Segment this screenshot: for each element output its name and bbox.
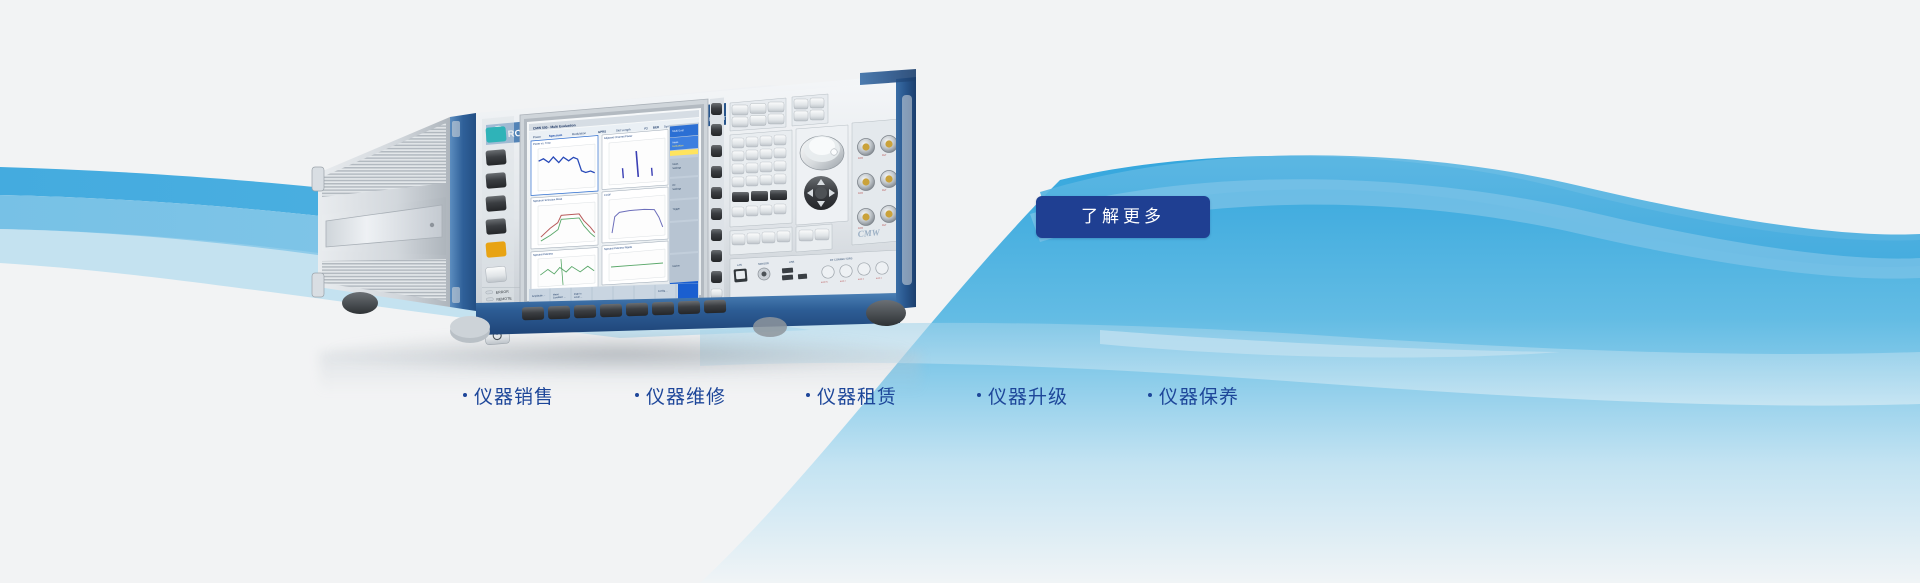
bullet-icon (806, 393, 810, 397)
softkeys-side-column[interactable] (710, 98, 724, 304)
key-print (485, 218, 506, 235)
left-key-column[interactable] (482, 116, 514, 310)
key-save-rcl (485, 172, 506, 189)
bullet-icon (635, 393, 639, 397)
svg-text:Meas: Meas (672, 162, 679, 166)
learn-more-button[interactable]: 了解更多 (1036, 196, 1210, 238)
direction-pad (804, 176, 838, 210)
bullet-icon (1148, 393, 1152, 397)
display-assembly: CMW 500 · Multi Evaluation Power Spectru… (520, 99, 708, 309)
instrument-cmw500: ROHDE&SCHWARZ CMW 500 · WIDEBAND RADIO C… (300, 55, 920, 365)
key-save (485, 149, 506, 166)
service-links: 仪器销售 仪器维修 仪器租赁 仪器升级 仪器保养 (0, 374, 1920, 416)
screen-side-tabs: Multi Eval Meas Evaluation Meas Settings… (669, 123, 699, 295)
key-sys (485, 266, 506, 283)
bullet-icon (977, 393, 981, 397)
chassis-blue-trim (450, 113, 476, 311)
service-link-maintenance[interactable]: 仪器保养 (1148, 382, 1239, 409)
svg-text:COM: COM (858, 193, 863, 195)
svg-text:OUT: OUT (882, 190, 887, 192)
service-link-repair[interactable]: 仪器维修 (635, 382, 726, 409)
service-link-upgrade[interactable]: 仪器升级 (977, 382, 1068, 409)
aux-keys-group (792, 94, 828, 126)
numeric-keypad (730, 130, 792, 227)
key-help (485, 241, 506, 258)
side-logo: CMW (857, 227, 881, 239)
service-label: 仪器维修 (646, 382, 726, 409)
function-keys-group (730, 98, 786, 131)
chassis-left-side (312, 117, 450, 307)
service-label: 仪器租赁 (817, 382, 897, 409)
svg-text:Trigger: Trigger (672, 207, 680, 211)
service-label: 仪器销售 (474, 382, 554, 409)
screen-content: CMW 500 · Multi Evaluation Power Spectru… (529, 110, 699, 303)
svg-text:OUT: OUT (882, 225, 887, 227)
svg-text:OUT: OUT (882, 155, 887, 157)
svg-text:GPRS: GPRS (598, 129, 607, 134)
svg-text:CCDF: CCDF (604, 192, 612, 197)
service-link-rental[interactable]: 仪器租赁 (806, 382, 897, 409)
svg-text:Marker: Marker (672, 264, 680, 268)
banner-stage: ROHDE&SCHWARZ CMW 500 · WIDEBAND RADIO C… (0, 0, 1920, 583)
key-setup (485, 195, 506, 212)
bullet-icon (463, 393, 467, 397)
svg-text:AUX IN: AUX IN (821, 280, 828, 284)
right-control-panel[interactable]: COM OUT COM OUT COM OUT CMW LAN SENSOR U… (726, 81, 900, 301)
rotary-knob-area (796, 125, 848, 225)
svg-text:Power: Power (533, 135, 542, 140)
svg-text:COM: COM (858, 158, 863, 160)
key-reset (485, 126, 506, 143)
service-label: 仪器升级 (988, 382, 1068, 409)
rf-connector-block: COM OUT COM OUT COM OUT CMW (852, 119, 900, 245)
label-usb: USB (789, 260, 795, 264)
label-lan: LAN (737, 263, 742, 267)
service-label: 仪器保养 (1159, 382, 1239, 409)
background-waves (0, 0, 1920, 583)
service-link-sales[interactable]: 仪器销售 (463, 382, 554, 409)
